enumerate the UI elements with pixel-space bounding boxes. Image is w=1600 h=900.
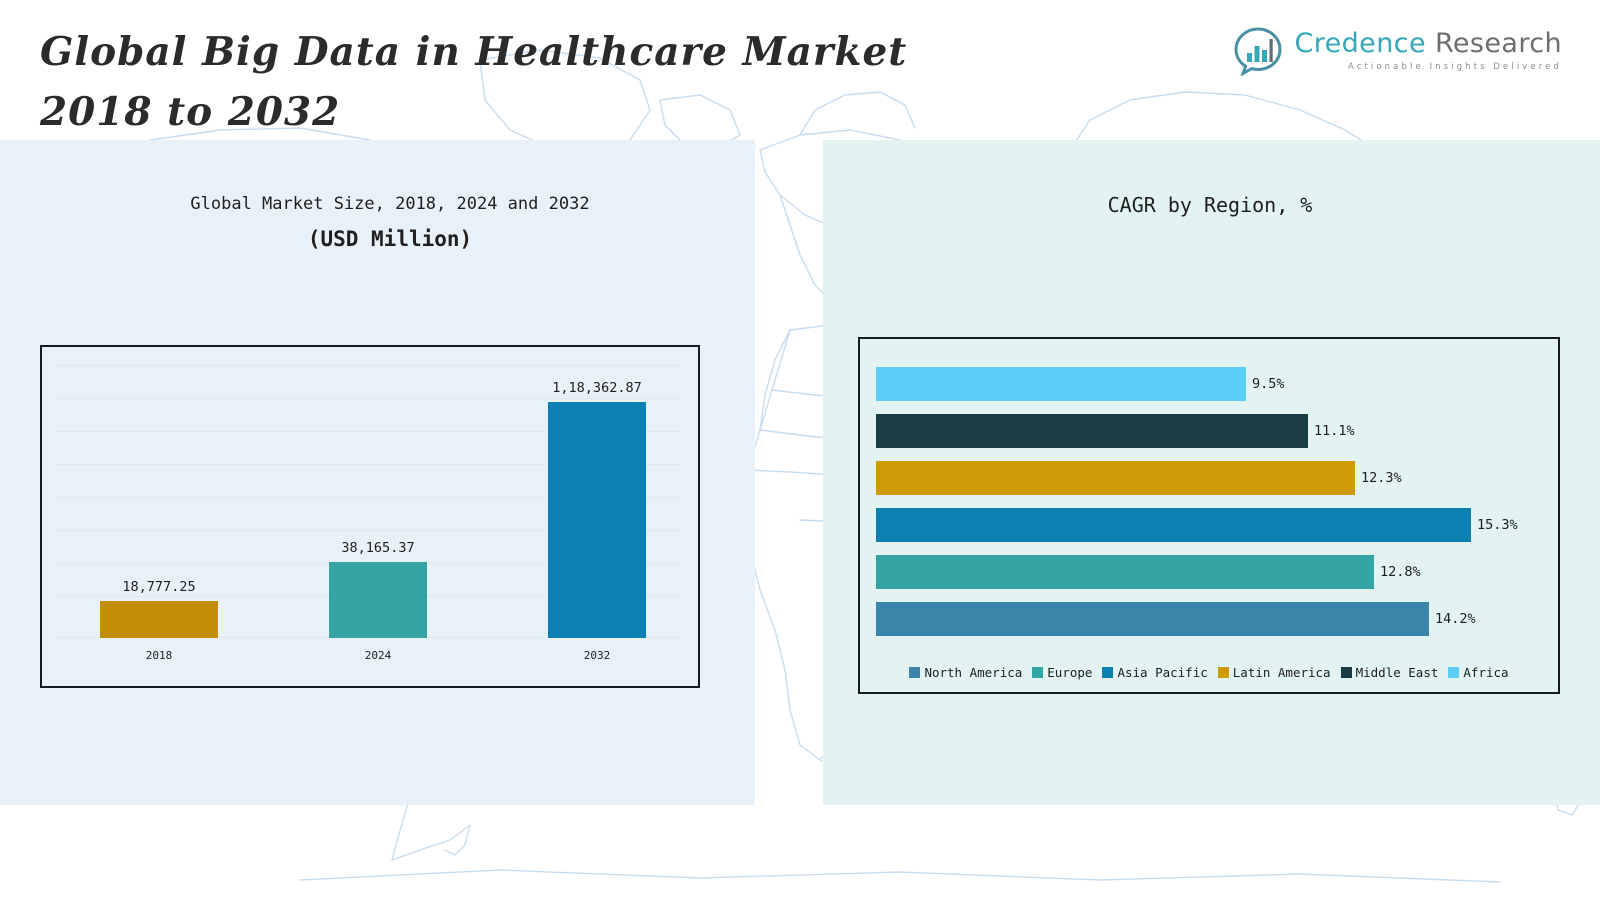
bar-chart-speech-bubble-icon [1233,26,1283,76]
horizontal-bar [876,367,1246,401]
bar-plot-area: 9.5%11.1%12.3%15.3%12.8%14.2% North Amer… [860,339,1558,692]
horizontal-bar [876,602,1429,636]
credence-research-logo: Credence Research Actionable Insights De… [1233,26,1562,76]
legend-label: Middle East [1356,665,1439,680]
legend-label: Africa [1463,665,1508,680]
bar-value-label: 14.2% [1435,611,1476,627]
logo-tagline: Actionable Insights Delivered [1294,63,1562,72]
logo-name-research: Research [1435,28,1562,59]
global-market-size-chart: 18,777.2538,165.371,18,362.87 2018202420… [40,345,700,688]
legend-swatch [1341,667,1352,678]
legend-swatch [1032,667,1043,678]
column-bar [100,601,218,638]
legend-item: Latin America [1218,665,1331,680]
column-bar [548,402,646,638]
horizontal-bar [876,414,1308,448]
legend-label: Asia Pacific [1117,665,1207,680]
column-value-label: 1,18,362.87 [552,380,641,396]
column-value-label: 38,165.37 [341,540,414,556]
horizontal-bar-row: 12.3% [876,461,1402,495]
legend-item: Middle East [1341,665,1439,680]
column-value-label: 18,777.25 [122,579,195,595]
legend-label: North America [924,665,1022,680]
horizontal-bar-row: 15.3% [876,508,1518,542]
bar-value-label: 12.3% [1361,470,1402,486]
logo-name-credence: Credence [1294,28,1426,59]
horizontal-bar [876,508,1471,542]
bar-value-label: 9.5% [1252,376,1285,392]
left-chart-title-line1: Global Market Size, 2018, 2024 and 2032 [190,194,589,214]
chart-legend: North AmericaEuropeAsia PacificLatin Ame… [860,665,1558,680]
column-bar [329,562,427,638]
left-chart-title: Global Market Size, 2018, 2024 and 2032 … [60,188,720,260]
legend-swatch [909,667,920,678]
left-chart-title-line2: (USD Million) [60,220,720,260]
bar-value-label: 12.8% [1380,564,1421,580]
gridline [56,365,684,366]
gridline [56,398,684,399]
category-tick-label: 2032 [584,649,611,662]
legend-swatch [1448,667,1459,678]
legend-item: North America [909,665,1022,680]
horizontal-bar-row: 14.2% [876,602,1476,636]
bar-value-label: 15.3% [1477,517,1518,533]
horizontal-bar [876,461,1355,495]
legend-swatch [1218,667,1229,678]
bar-value-label: 11.1% [1314,423,1355,439]
horizontal-bar-row: 12.8% [876,555,1421,589]
page-title: Global Big Data in Healthcare Market 201… [40,22,1060,143]
cagr-by-region-chart: 9.5%11.1%12.3%15.3%12.8%14.2% North Amer… [858,337,1560,694]
category-tick-label: 2018 [146,649,173,662]
category-tick-label: 2024 [365,649,392,662]
legend-label: Europe [1047,665,1092,680]
legend-item: Asia Pacific [1102,665,1207,680]
horizontal-bar-row: 11.1% [876,414,1355,448]
right-chart-title: CAGR by Region, % [860,193,1560,217]
legend-item: Africa [1448,665,1508,680]
header: Global Big Data in Healthcare Market 201… [0,0,1600,140]
column-plot-area: 18,777.2538,165.371,18,362.87 2018202420… [42,347,698,686]
legend-item: Europe [1032,665,1092,680]
legend-label: Latin America [1233,665,1331,680]
legend-swatch [1102,667,1113,678]
horizontal-bar [876,555,1374,589]
horizontal-bar-row: 9.5% [876,367,1285,401]
